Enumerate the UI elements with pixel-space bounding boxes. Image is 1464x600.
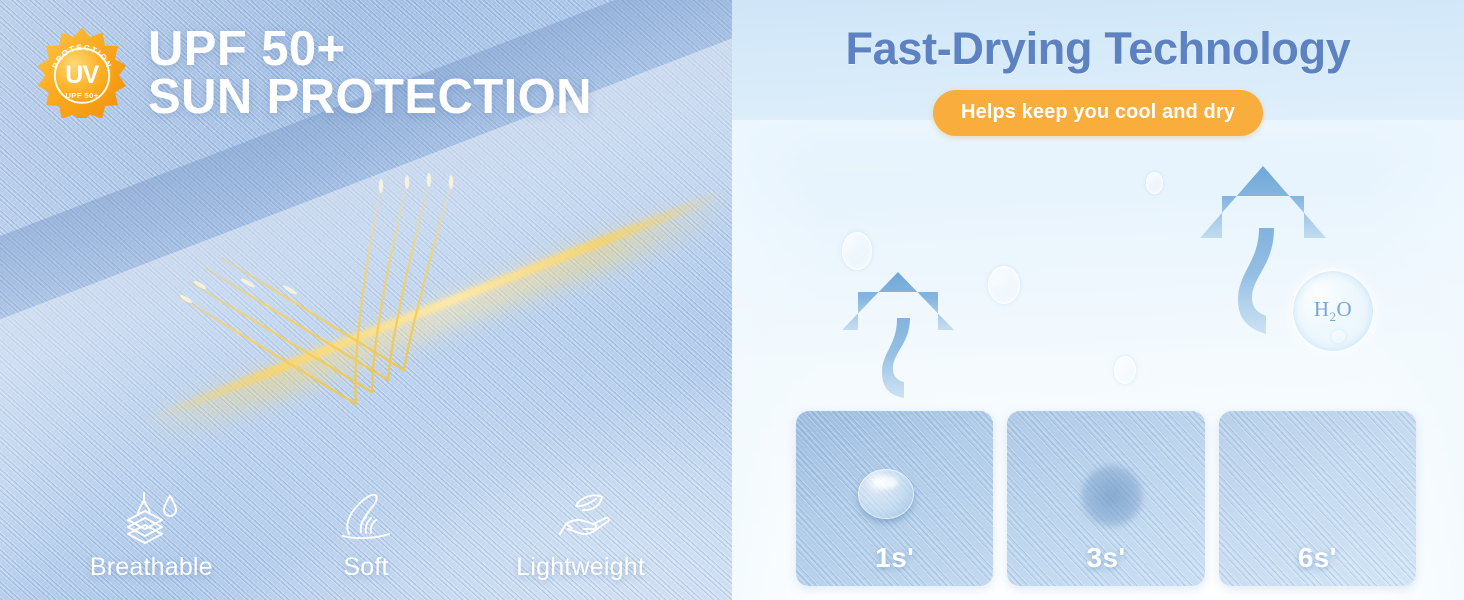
timeline-label: 1s' (796, 542, 993, 574)
damp-spot-icon (1081, 465, 1143, 527)
svg-text:UPF 50+: UPF 50+ (65, 91, 98, 100)
timeline-label: 3s' (1007, 542, 1204, 574)
drying-timeline: 1s' 3s' 6s' (796, 411, 1416, 586)
fabric-edge-glow-soft (145, 193, 731, 444)
uv-protection-badge-icon: PROTECTION UV UPF 50+ (36, 26, 128, 118)
title-line-1: UPF 50+ (148, 22, 346, 76)
page-title: UPF 50+ SUN PROTECTION (148, 22, 592, 121)
feature-label: Breathable (90, 553, 213, 582)
timeline-card-1s: 1s' (796, 411, 993, 586)
water-droplet-icon (858, 469, 914, 519)
timeline-label: 6s' (1219, 542, 1416, 574)
feature-lightweight: Lightweight (481, 490, 681, 582)
svg-text:UV: UV (65, 62, 99, 89)
timeline-card-6s: 6s' (1219, 411, 1416, 586)
left-panel-heading: PROTECTION UV UPF 50+ UPF 50+ SUN PROTEC… (36, 22, 592, 121)
feature-label: Lightweight (516, 553, 645, 582)
h2o-bubble-icon: H2O (1292, 270, 1374, 352)
product-feature-infographic: PROTECTION UV UPF 50+ UPF 50+ SUN PROTEC… (0, 0, 1464, 600)
right-panel-heading: Fast-Drying Technology Helps keep you co… (732, 26, 1464, 136)
title-line-2: SUN PROTECTION (148, 74, 592, 122)
timeline-card-3s: 3s' (1007, 411, 1204, 586)
upf-sun-protection-panel: PROTECTION UV UPF 50+ UPF 50+ SUN PROTEC… (0, 0, 732, 600)
lightweight-leaf-hand-icon (550, 490, 612, 544)
fabric-edge-glow (148, 188, 728, 424)
section-title: Fast-Drying Technology (732, 26, 1464, 71)
feature-breathable: Breathable (51, 490, 251, 582)
benefit-badge: Helps keep you cool and dry (933, 90, 1263, 136)
feature-soft: Soft (266, 490, 466, 582)
breathable-layers-icon (120, 490, 182, 544)
soft-hand-touch-icon (335, 490, 397, 544)
feature-list: Breathable Soft (0, 490, 732, 582)
feature-label: Soft (343, 553, 388, 582)
fast-drying-technology-panel: H2O Fast-Drying Technology Helps keep yo… (732, 0, 1464, 600)
h2o-label: H2O (1314, 297, 1352, 325)
